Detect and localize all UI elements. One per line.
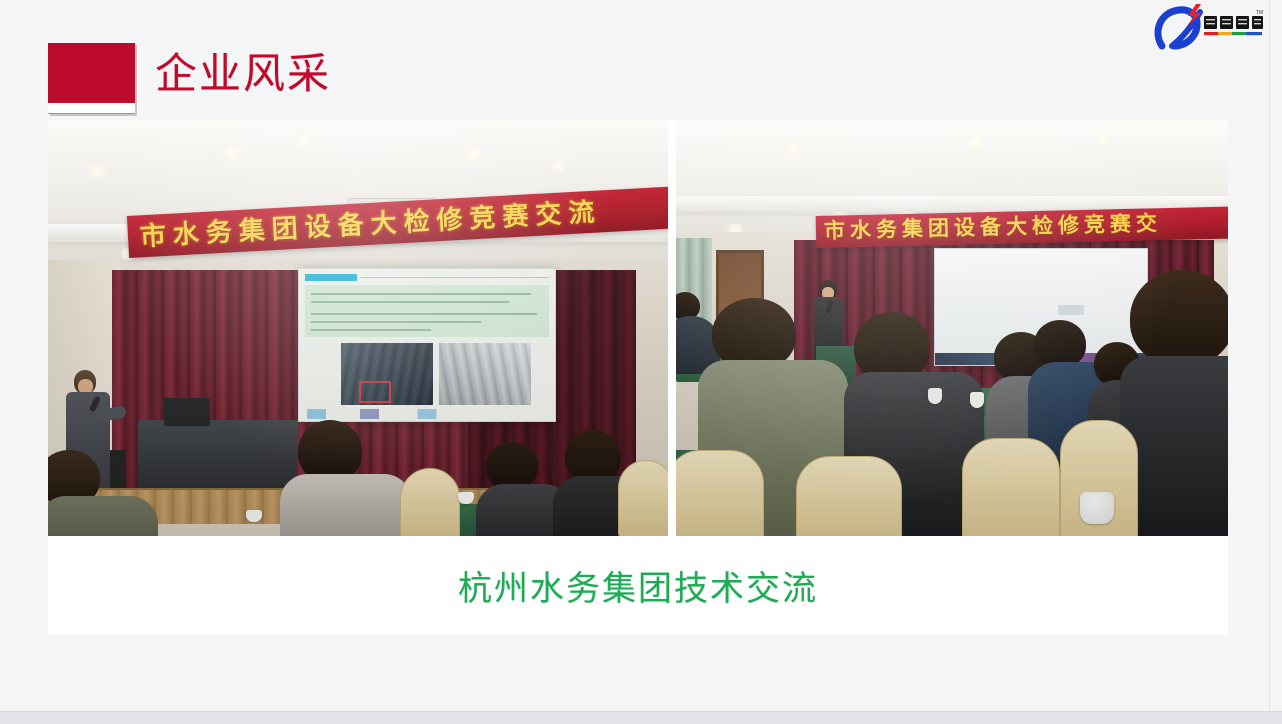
header-accent-block-base: [48, 103, 135, 114]
svg-text:TM: TM: [1256, 10, 1263, 16]
page-title: 企业风采: [155, 46, 331, 102]
page-root: TM 企业风采: [0, 0, 1282, 724]
photo-front-projection-screen: [298, 268, 556, 422]
photo-gallery: 市水务集团设备大检修竞赛交流: [48, 120, 1228, 536]
content-card: 市水务集团设备大检修竞赛交流: [48, 120, 1228, 635]
horizontal-scrollbar[interactable]: [0, 711, 1282, 724]
gallery-photo-rear[interactable]: 市水务集团设备大检修竞赛交: [676, 120, 1228, 536]
photo-rear-banner-text: 市水务集团设备大检修竞赛交: [824, 209, 1163, 247]
photo-caption-bar: 杭州水务集团技术交流: [48, 536, 1228, 635]
photo-front-scene: 市水务集团设备大检修竞赛交流: [48, 120, 668, 536]
photo-caption: 杭州水务集团技术交流: [458, 561, 818, 610]
photo-rear-scene: 市水务集团设备大检修竞赛交: [676, 120, 1228, 536]
gallery-photo-front[interactable]: 市水务集团设备大检修竞赛交流: [48, 120, 668, 536]
header-accent-block: [48, 43, 135, 103]
page-header: 企业风采: [48, 40, 1228, 118]
vertical-scrollbar[interactable]: [1269, 0, 1282, 724]
